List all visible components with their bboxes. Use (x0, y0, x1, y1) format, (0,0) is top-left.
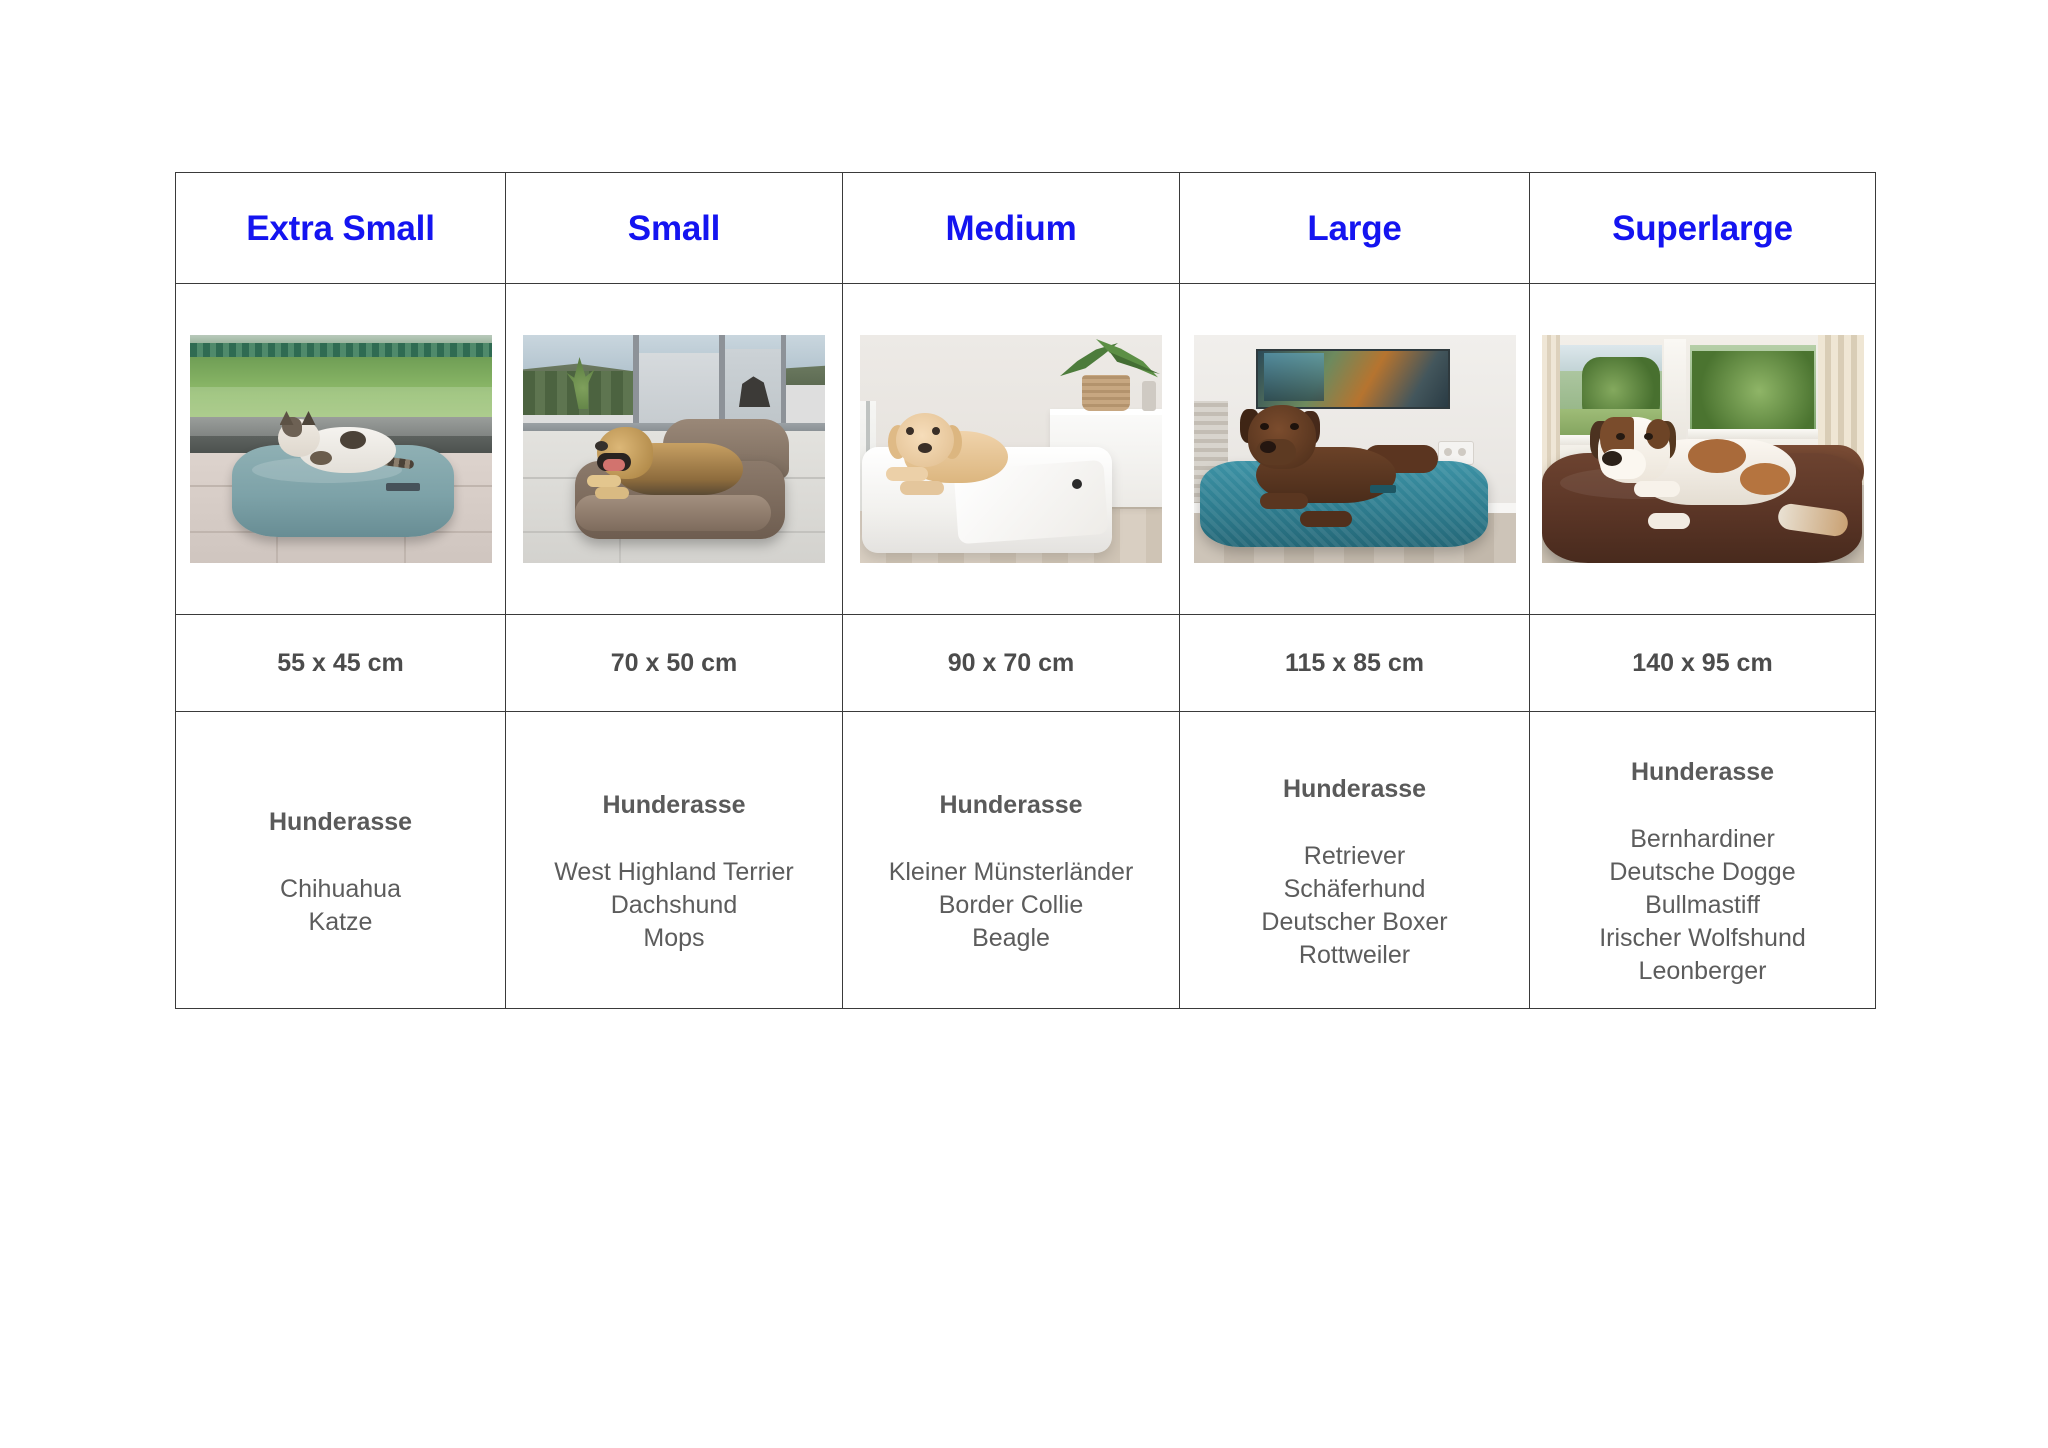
dimensions-label: 90 x 70 cm (843, 649, 1179, 678)
breeds-list: BernhardinerDeutsche DoggeBullmastiffIri… (1530, 823, 1875, 988)
breeds-title: Hunderasse (843, 791, 1179, 820)
photo-wrap (1530, 284, 1875, 614)
table-row-photos (176, 284, 1876, 615)
breeds-title: Hunderasse (176, 808, 505, 837)
breed-item: West Highland Terrier (506, 856, 842, 889)
dimensions-label: 115 x 85 cm (1180, 649, 1529, 678)
breeds-list: RetrieverSchäferhundDeutscher BoxerRottw… (1180, 840, 1529, 972)
breed-item: Mops (506, 922, 842, 955)
cell-breeds-extra-small: Hunderasse ChihuahuaKatze (176, 712, 506, 1009)
breed-item: Border Collie (843, 889, 1179, 922)
cell-dimensions-superlarge: 140 x 95 cm (1530, 615, 1876, 712)
cell-breeds-small: Hunderasse West Highland TerrierDachshun… (506, 712, 843, 1009)
cell-photo-small (506, 284, 843, 615)
photo-wrap (1180, 284, 1529, 614)
cell-photo-large (1180, 284, 1530, 615)
cell-breeds-medium: Hunderasse Kleiner MünsterländerBorder C… (843, 712, 1180, 1009)
breed-item: Dachshund (506, 889, 842, 922)
breeds-cell: Hunderasse West Highland TerrierDachshun… (506, 765, 842, 955)
size-header-label: Large (1180, 211, 1529, 246)
cell-breeds-large: Hunderasse RetrieverSchäferhundDeutscher… (1180, 712, 1530, 1009)
photo-wrap (176, 284, 505, 614)
product-photo-small (523, 335, 825, 563)
product-photo-extra-small (190, 335, 492, 563)
breed-item: Katze (176, 906, 505, 939)
size-header-label: Small (506, 211, 842, 246)
cell-photo-superlarge (1530, 284, 1876, 615)
cell-header-superlarge: Superlarge (1530, 173, 1876, 284)
size-header-label: Medium (843, 211, 1179, 246)
table-row-breeds: Hunderasse ChihuahuaKatze Hunderasse Wes… (176, 712, 1876, 1009)
cell-photo-medium (843, 284, 1180, 615)
photo-wrap (843, 284, 1179, 614)
cell-photo-extra-small (176, 284, 506, 615)
breeds-list: West Highland TerrierDachshundMops (506, 856, 842, 955)
dimensions-label: 70 x 50 cm (506, 649, 842, 678)
breeds-list: Kleiner MünsterländerBorder CollieBeagle (843, 856, 1179, 955)
breed-item: Deutscher Boxer (1180, 906, 1529, 939)
breed-item: Kleiner Münsterländer (843, 856, 1179, 889)
photo-wrap (506, 284, 842, 614)
breed-item: Irischer Wolfshund (1530, 922, 1875, 955)
cell-dimensions-medium: 90 x 70 cm (843, 615, 1180, 712)
cell-breeds-superlarge: Hunderasse BernhardinerDeutsche DoggeBul… (1530, 712, 1876, 1009)
cell-header-small: Small (506, 173, 843, 284)
breed-item: Rottweiler (1180, 939, 1529, 972)
breeds-cell: Hunderasse Kleiner MünsterländerBorder C… (843, 765, 1179, 955)
breed-item: Bernhardiner (1530, 823, 1875, 856)
breed-item: Deutsche Dogge (1530, 856, 1875, 889)
breeds-cell: Hunderasse ChihuahuaKatze (176, 782, 505, 939)
cell-header-medium: Medium (843, 173, 1180, 284)
table-row-size-headers: Extra Small Small Medium Large Superlarg… (176, 173, 1876, 284)
breed-item: Leonberger (1530, 955, 1875, 988)
product-photo-large (1194, 335, 1516, 563)
product-photo-medium (860, 335, 1162, 563)
breed-item: Chihuahua (176, 873, 505, 906)
page-canvas: Extra Small Small Medium Large Superlarg… (0, 0, 2048, 1448)
breed-item: Beagle (843, 922, 1179, 955)
plant-pot-shape (1082, 375, 1130, 411)
breed-item: Bullmastiff (1530, 889, 1875, 922)
dimensions-label: 140 x 95 cm (1530, 649, 1875, 678)
cell-dimensions-large: 115 x 85 cm (1180, 615, 1530, 712)
size-chart-table: Extra Small Small Medium Large Superlarg… (175, 172, 1876, 1009)
table-row-dimensions: 55 x 45 cm 70 x 50 cm 90 x 70 cm 115 x 8… (176, 615, 1876, 712)
breed-item: Schäferhund (1180, 873, 1529, 906)
dimensions-label: 55 x 45 cm (176, 649, 505, 678)
size-header-label: Extra Small (176, 211, 505, 246)
breeds-list: ChihuahuaKatze (176, 873, 505, 939)
cell-header-extra-small: Extra Small (176, 173, 506, 284)
breeds-title: Hunderasse (506, 791, 842, 820)
product-photo-superlarge (1542, 335, 1864, 563)
size-header-label: Superlarge (1530, 211, 1875, 246)
breeds-title: Hunderasse (1180, 775, 1529, 804)
cell-header-large: Large (1180, 173, 1530, 284)
breed-item: Retriever (1180, 840, 1529, 873)
breeds-cell: Hunderasse BernhardinerDeutsche DoggeBul… (1530, 732, 1875, 988)
cell-dimensions-small: 70 x 50 cm (506, 615, 843, 712)
breeds-title: Hunderasse (1530, 758, 1875, 787)
breeds-cell: Hunderasse RetrieverSchäferhundDeutscher… (1180, 749, 1529, 972)
cell-dimensions-extra-small: 55 x 45 cm (176, 615, 506, 712)
